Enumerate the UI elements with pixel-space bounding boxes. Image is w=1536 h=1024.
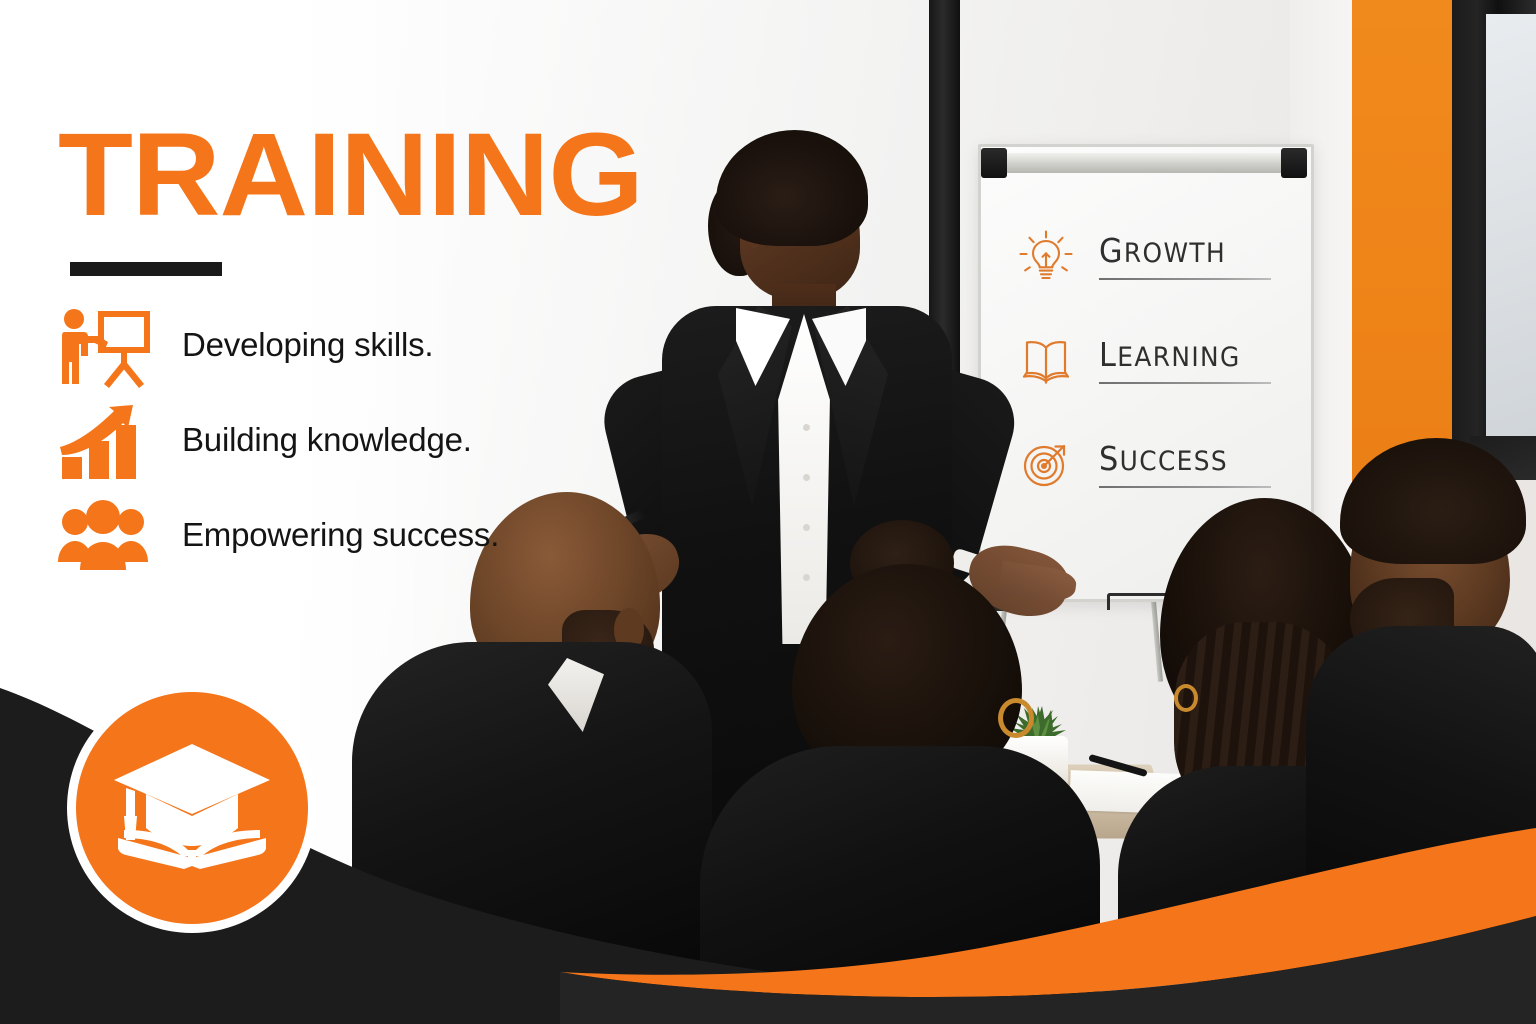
page-title: TRAINING — [58, 116, 643, 234]
bullet-label: Empowering success. — [182, 516, 499, 554]
presenter-board-icon — [56, 308, 154, 388]
attendee-suit — [700, 746, 1100, 1006]
bullet-item-building-knowledge: Building knowledge. — [56, 403, 526, 498]
shirt-button — [803, 424, 810, 431]
window-glass — [1486, 14, 1536, 454]
attendee-earring — [998, 698, 1034, 738]
bar-chart-growth-icon — [56, 403, 154, 483]
flipchart-label-success: SUCCESS — [1099, 439, 1228, 478]
attendee-hair — [1340, 438, 1526, 564]
bullet-item-developing-skills: Developing skills. — [56, 308, 526, 403]
attendee-suit — [1306, 626, 1536, 956]
flipchart-underline — [1099, 486, 1271, 488]
presenter-hair — [716, 130, 868, 246]
flipchart-clamp-right — [1281, 148, 1307, 178]
bullet-item-empowering-success: Empowering success. — [56, 498, 526, 593]
flipchart-label-growth: GROWTH — [1099, 231, 1226, 270]
title-underline-bar — [70, 262, 222, 276]
flipchart-underline — [1099, 278, 1271, 280]
graduation-cap-book-icon — [110, 738, 274, 878]
people-group-icon — [56, 498, 154, 578]
flipchart-label-learning: LEARNING — [1099, 335, 1241, 374]
attendee-earring — [1174, 684, 1198, 712]
flipchart-underline — [1099, 382, 1271, 384]
attendee-bun-hair-woman — [700, 520, 1100, 990]
attendee-bearded-man — [1306, 430, 1536, 950]
shirt-button — [803, 474, 810, 481]
attendee-suit — [352, 642, 712, 972]
bullet-label: Developing skills. — [182, 326, 433, 364]
education-badge — [76, 692, 308, 924]
training-poster: GROWTH — [0, 0, 1536, 1024]
bullet-label: Building knowledge. — [182, 421, 472, 459]
bullet-list: Developing skills. Building knowledge. — [56, 308, 526, 593]
